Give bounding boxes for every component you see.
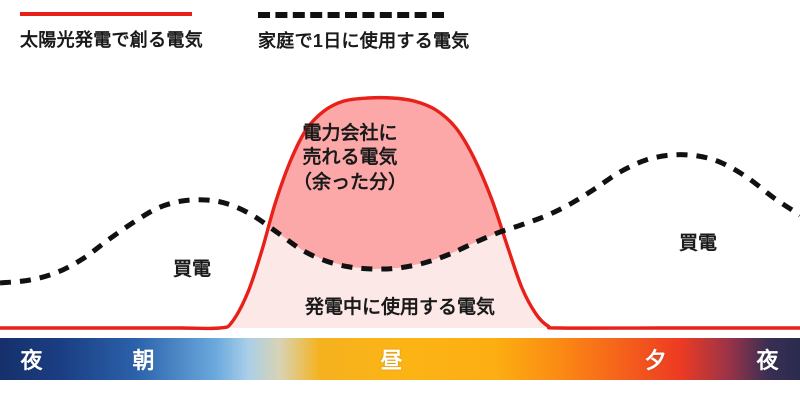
time-label-night-early: 夜 bbox=[20, 343, 43, 375]
time-label-morning: 朝 bbox=[132, 343, 155, 375]
annotation-buy-morning: 買電 bbox=[173, 258, 211, 282]
time-label-noon: 昼 bbox=[380, 343, 403, 375]
annotation-surplus-line-1: 電力会社に bbox=[293, 122, 407, 146]
solar-power-infographic: 太陽光発電で創る電気 家庭で1日に使用する電気 電力会社に 売れる電気 （余った… bbox=[0, 0, 800, 400]
annotation-buy-evening: 買電 bbox=[679, 232, 717, 256]
time-label-evening: 夕 bbox=[644, 343, 667, 375]
annotation-surplus-line-3: （余った分） bbox=[293, 171, 407, 195]
annotation-surplus-sold: 電力会社に 売れる電気 （余った分） bbox=[293, 122, 407, 195]
time-label-night-late: 夜 bbox=[756, 343, 779, 375]
annotation-self-consumed: 発電中に使用する電気 bbox=[305, 296, 495, 320]
annotation-surplus-line-2: 売れる電気 bbox=[293, 146, 407, 170]
time-of-day-bar: 夜 朝 昼 夕 夜 bbox=[0, 338, 800, 380]
